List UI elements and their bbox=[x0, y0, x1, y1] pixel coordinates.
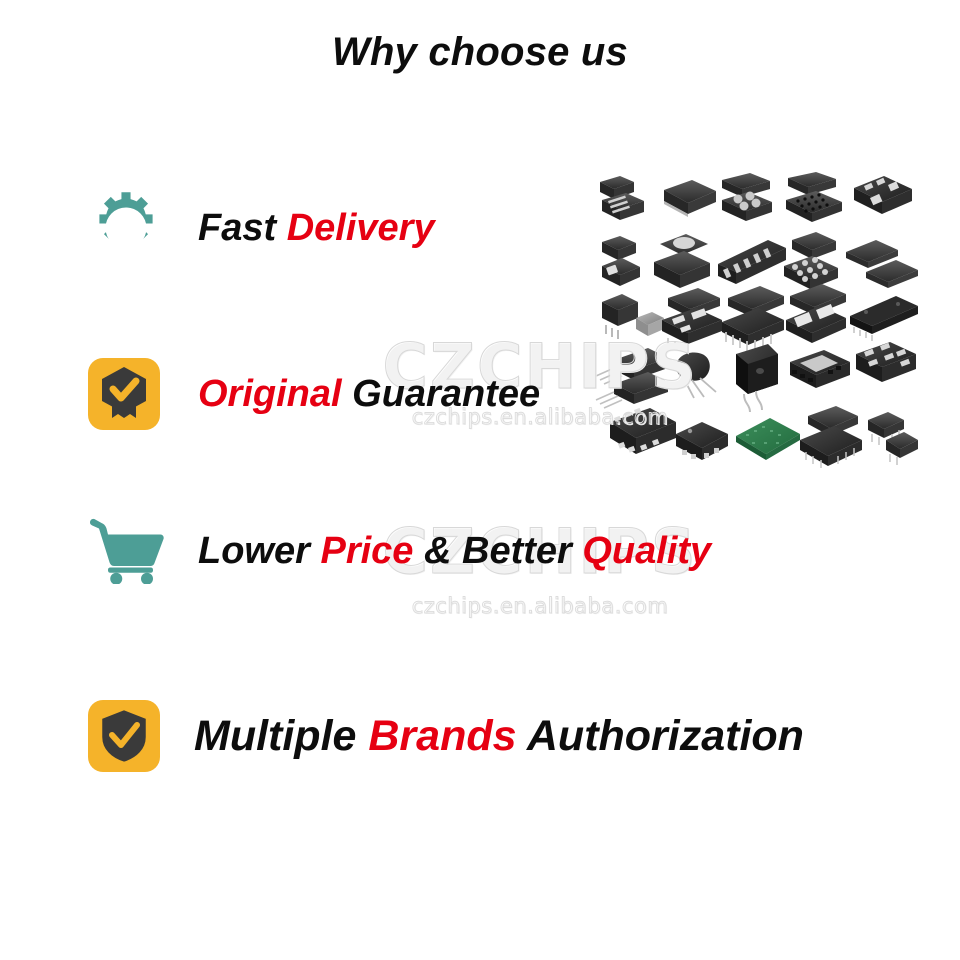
chip-item bbox=[610, 408, 676, 454]
chip-item bbox=[600, 176, 644, 220]
shopping-cart-icon bbox=[88, 518, 180, 584]
feature-row-brands-authorization: Multiple Brands Authorization bbox=[88, 700, 804, 772]
feature-text-part-highlight: Quality bbox=[582, 530, 711, 572]
chip-item bbox=[736, 344, 778, 412]
feature-text-part-highlight: Brands bbox=[368, 712, 516, 760]
feature-row-price-quality: Lower Price & Better Quality bbox=[88, 518, 711, 584]
chip-item bbox=[786, 172, 842, 222]
icon-tile bbox=[88, 358, 160, 430]
feature-label-fast-delivery: Fast Delivery bbox=[198, 209, 435, 247]
chip-item bbox=[676, 422, 728, 460]
chip-item bbox=[850, 296, 918, 341]
feature-text-part: Fast bbox=[198, 207, 287, 249]
chip-item bbox=[722, 286, 784, 351]
feature-label-price-quality: Lower Price & Better Quality bbox=[198, 532, 711, 570]
chip-item bbox=[602, 236, 640, 286]
chip-item bbox=[718, 240, 786, 284]
feature-text-part-highlight: Original bbox=[198, 373, 342, 415]
page-title: Why choose us bbox=[0, 30, 960, 75]
chip-item bbox=[786, 284, 846, 343]
chip-item bbox=[662, 288, 722, 351]
feature-row-fast-delivery: Fast Delivery bbox=[88, 190, 435, 266]
feature-label-brands-authorization: Multiple Brands Authorization bbox=[194, 715, 804, 758]
feature-text-part: Lower bbox=[198, 530, 320, 572]
shield-check-icon bbox=[88, 700, 180, 772]
chip-item bbox=[854, 176, 912, 214]
marketing-banner: Why choose us bbox=[0, 0, 960, 960]
ic-chip-package-collage bbox=[592, 172, 918, 468]
chip-item bbox=[676, 353, 716, 398]
chip-item bbox=[790, 350, 850, 388]
chip-item bbox=[868, 412, 918, 465]
feature-row-original-guarantee: Original Guarantee bbox=[88, 358, 540, 430]
chip-item bbox=[800, 406, 862, 468]
chip-item bbox=[664, 180, 716, 217]
chip-item bbox=[736, 418, 800, 460]
feature-text-part: Guarantee bbox=[342, 373, 541, 415]
feature-text-part: Multiple bbox=[194, 712, 368, 760]
feature-text-part: Authorization bbox=[517, 712, 804, 760]
chip-item bbox=[596, 348, 668, 408]
chip-item bbox=[784, 232, 838, 289]
feature-text-part: & Better bbox=[413, 530, 582, 572]
watermark-url-text: czchips.en.alibaba.com bbox=[330, 594, 750, 618]
chip-item bbox=[846, 240, 918, 288]
chip-item bbox=[722, 173, 772, 221]
feature-text-part-highlight: Price bbox=[320, 530, 413, 572]
chip-item bbox=[602, 294, 664, 339]
verified-badge-icon bbox=[88, 358, 180, 430]
icon-tile bbox=[88, 700, 160, 772]
chip-item bbox=[654, 234, 710, 288]
chip-item bbox=[856, 342, 916, 382]
feature-text-part-highlight: Delivery bbox=[287, 207, 435, 249]
gear-icon bbox=[88, 190, 180, 266]
feature-label-original-guarantee: Original Guarantee bbox=[198, 375, 540, 413]
